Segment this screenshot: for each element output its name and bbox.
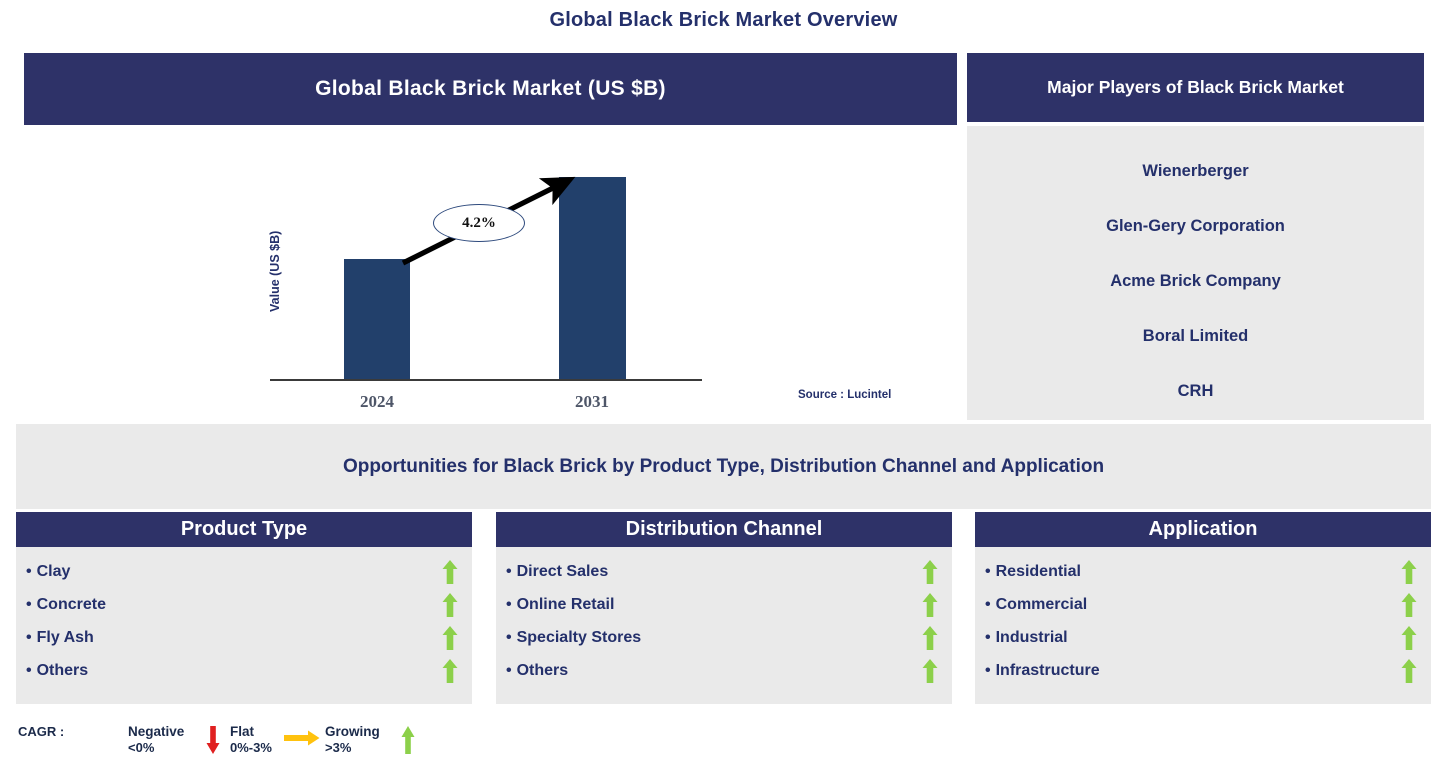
arrow-up-green-icon	[1401, 659, 1417, 683]
bullet-icon: •	[985, 662, 991, 679]
category-header: Distribution Channel	[496, 512, 952, 547]
legend-entry-range: <0%	[128, 740, 184, 756]
category-item-label: •Concrete	[26, 596, 106, 614]
players-panel-header: Major Players of Black Brick Market	[967, 53, 1424, 122]
arrow-up-green-icon	[1401, 626, 1417, 650]
arrow-right-amber-icon	[284, 730, 320, 746]
legend-entry-name: Negative	[128, 724, 184, 740]
arrow-up-green-icon	[922, 626, 938, 650]
chart-panel-title: Global Black Brick Market (US $B)	[315, 77, 666, 101]
arrow-down-red-icon	[206, 726, 220, 754]
cagr-legend-entry-flat: Flat 0%-3%	[230, 724, 272, 756]
arrow-up-green-icon	[401, 726, 415, 754]
list-item[interactable]: •Others	[506, 654, 938, 687]
category-items: •Direct Sales •Online Retail •Specialty …	[496, 547, 952, 704]
bar-label-2024: 2024	[317, 392, 437, 412]
players-panel-title: Major Players of Black Brick Market	[1047, 77, 1344, 98]
category-item-text: Clay	[37, 563, 71, 580]
category-item-text: Infrastructure	[996, 662, 1100, 679]
arrow-up-green-icon	[442, 659, 458, 683]
arrow-up-green-icon	[442, 560, 458, 584]
category-item-text: Others	[517, 662, 569, 679]
list-item[interactable]: •Concrete	[26, 588, 458, 621]
category-item-label: •Industrial	[985, 629, 1068, 647]
list-item[interactable]: •Infrastructure	[985, 654, 1417, 687]
category-items: •Residential •Commercial •Industrial •In…	[975, 547, 1431, 704]
category-item-label: •Others	[26, 662, 88, 680]
list-item[interactable]: •Commercial	[985, 588, 1417, 621]
list-item[interactable]: •Clay	[26, 555, 458, 588]
category-box-application: Application •Residential •Commercial •In…	[975, 512, 1431, 704]
category-item-label: •Others	[506, 662, 568, 680]
category-box-distribution-channel: Distribution Channel •Direct Sales •Onli…	[496, 512, 952, 704]
bar-2024	[344, 259, 410, 379]
category-item-label: •Infrastructure	[985, 662, 1100, 680]
bar-label-2031: 2031	[532, 392, 652, 412]
list-item: Wienerberger	[967, 152, 1424, 207]
page-title: Global Black Brick Market Overview	[0, 9, 1447, 32]
category-item-text: Concrete	[37, 596, 106, 613]
list-item[interactable]: •Specialty Stores	[506, 621, 938, 654]
list-item: Glen-Gery Corporation	[967, 207, 1424, 262]
category-title: Distribution Channel	[626, 518, 823, 541]
category-item-text: Direct Sales	[517, 563, 609, 580]
category-item-label: •Specialty Stores	[506, 629, 641, 647]
bullet-icon: •	[985, 629, 991, 646]
opportunities-banner: Opportunities for Black Brick by Product…	[16, 424, 1431, 509]
list-item[interactable]: •Direct Sales	[506, 555, 938, 588]
category-item-text: Fly Ash	[37, 629, 94, 646]
bullet-icon: •	[506, 629, 512, 646]
major-players-panel: Major Players of Black Brick Market Wien…	[967, 53, 1424, 420]
legend-entry-range: 0%-3%	[230, 740, 272, 756]
cagr-callout-bubble: 4.2%	[433, 204, 525, 242]
arrow-up-green-icon	[922, 593, 938, 617]
category-item-text: Online Retail	[517, 596, 615, 613]
cagr-legend-title: CAGR :	[18, 724, 64, 739]
legend-entry-name: Flat	[230, 724, 272, 740]
category-item-label: •Commercial	[985, 596, 1087, 614]
bullet-icon: •	[985, 596, 991, 613]
legend-entry-name: Growing	[325, 724, 380, 740]
category-title: Application	[1149, 518, 1258, 541]
category-items: •Clay •Concrete •Fly Ash •Others	[16, 547, 472, 704]
category-item-label: •Residential	[985, 563, 1081, 581]
cagr-legend-entry-growing: Growing >3%	[325, 724, 380, 756]
category-item-text: Commercial	[996, 596, 1088, 613]
source-note: Source : Lucintel	[798, 389, 891, 401]
chart-panel-header: Global Black Brick Market (US $B)	[24, 53, 957, 125]
category-item-label: •Fly Ash	[26, 629, 94, 647]
category-item-label: •Online Retail	[506, 596, 614, 614]
opportunities-banner-title: Opportunities for Black Brick by Product…	[343, 456, 1104, 478]
arrow-up-green-icon	[1401, 560, 1417, 584]
arrow-up-green-icon	[922, 560, 938, 584]
arrow-up-green-icon	[442, 626, 458, 650]
cagr-legend-entry-negative: Negative <0%	[128, 724, 184, 756]
category-item-label: •Direct Sales	[506, 563, 608, 581]
arrow-up-green-icon	[922, 659, 938, 683]
chart-x-axis-line	[270, 379, 702, 381]
bullet-icon: •	[26, 563, 32, 580]
chart-y-axis-label: Value (US $B)	[268, 202, 282, 312]
arrow-up-green-icon	[442, 593, 458, 617]
bullet-icon: •	[26, 629, 32, 646]
category-header: Application	[975, 512, 1431, 547]
list-item: Acme Brick Company	[967, 262, 1424, 317]
category-item-text: Industrial	[996, 629, 1068, 646]
arrow-up-green-icon	[1401, 593, 1417, 617]
category-box-product-type: Product Type •Clay •Concrete •Fly Ash •O…	[16, 512, 472, 704]
list-item[interactable]: •Residential	[985, 555, 1417, 588]
category-item-label: •Clay	[26, 563, 70, 581]
cagr-legend: CAGR : Negative <0% Flat 0%-3% Growing >…	[18, 720, 438, 770]
legend-entry-range: >3%	[325, 740, 380, 756]
category-item-text: Residential	[996, 563, 1081, 580]
category-title: Product Type	[181, 518, 307, 541]
bullet-icon: •	[985, 563, 991, 580]
bullet-icon: •	[26, 596, 32, 613]
bullet-icon: •	[506, 563, 512, 580]
list-item: Boral Limited	[967, 317, 1424, 372]
list-item[interactable]: •Online Retail	[506, 588, 938, 621]
category-item-text: Specialty Stores	[517, 629, 642, 646]
bullet-icon: •	[506, 662, 512, 679]
list-item: CRH	[967, 372, 1424, 427]
category-header: Product Type	[16, 512, 472, 547]
bullet-icon: •	[506, 596, 512, 613]
bullet-icon: •	[26, 662, 32, 679]
list-item[interactable]: •Fly Ash	[26, 621, 458, 654]
list-item[interactable]: •Others	[26, 654, 458, 687]
category-item-text: Others	[37, 662, 89, 679]
list-item[interactable]: •Industrial	[985, 621, 1417, 654]
cagr-value: 4.2%	[462, 215, 496, 232]
players-list: Wienerberger Glen-Gery Corporation Acme …	[967, 126, 1424, 420]
